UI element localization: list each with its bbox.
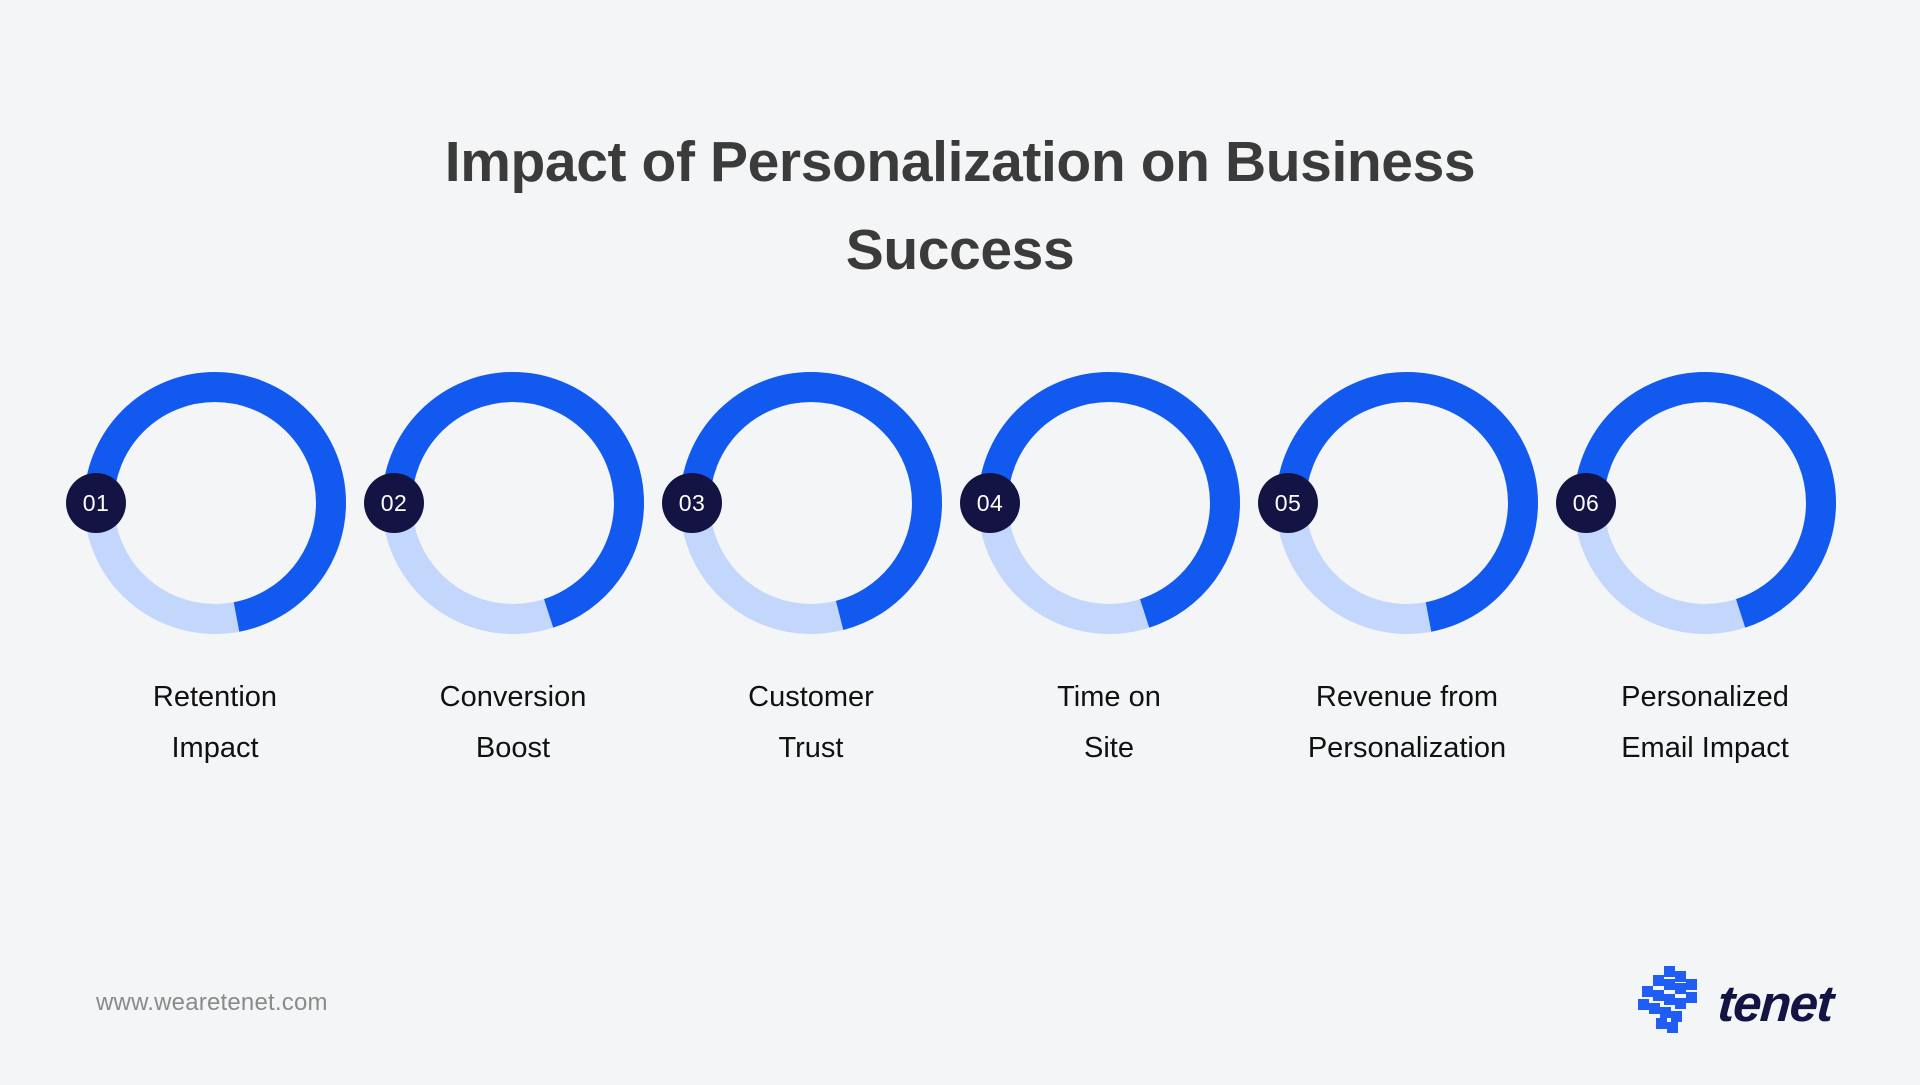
donut-number-badge: 03	[662, 473, 722, 533]
donut-cell: 03CustomerTrust	[662, 372, 960, 774]
donut-chart-row: 01RetentionImpact02ConversionBoost03Cust…	[66, 372, 1856, 774]
donut-cell: 01RetentionImpact	[66, 372, 364, 774]
donut-label-line-1: Retention	[75, 672, 355, 723]
page-title-container: Impact of Personalization on Business Su…	[0, 118, 1920, 294]
donut-chart[interactable]: 04	[978, 372, 1240, 634]
donut-chart[interactable]: 02	[382, 372, 644, 634]
donut-chart[interactable]: 06	[1574, 372, 1836, 634]
donut-number-badge: 05	[1258, 473, 1318, 533]
donut-label: Time onSite	[969, 672, 1249, 774]
donut-number-badge: 01	[66, 473, 126, 533]
donut-label-line-2: Impact	[75, 723, 355, 774]
donut-label-line-2: Site	[969, 723, 1249, 774]
donut-number-badge: 06	[1556, 473, 1616, 533]
donut-chart[interactable]: 05	[1276, 372, 1538, 634]
donut-label: Revenue fromPersonalization	[1267, 672, 1547, 774]
donut-chart[interactable]: 01	[84, 372, 346, 634]
donut-number-badge: 02	[364, 473, 424, 533]
donut-label-line-1: Customer	[671, 672, 951, 723]
donut-label-line-2: Email Impact	[1565, 723, 1845, 774]
donut-label: PersonalizedEmail Impact	[1565, 672, 1845, 774]
donut-label-line-1: Conversion	[373, 672, 653, 723]
infographic-canvas: Impact of Personalization on Business Su…	[0, 0, 1920, 1085]
donut-label-line-2: Trust	[671, 723, 951, 774]
donut-label: CustomerTrust	[671, 672, 951, 774]
tenet-logo-mark-icon	[1638, 966, 1704, 1041]
tenet-logo-wordmark: tenet	[1716, 978, 1834, 1029]
donut-label-line-2: Boost	[373, 723, 653, 774]
donut-label-line-1: Time on	[969, 672, 1249, 723]
donut-label-line-1: Revenue from	[1267, 672, 1547, 723]
donut-label: RetentionImpact	[75, 672, 355, 774]
donut-label-line-2: Personalization	[1267, 723, 1547, 774]
donut-number-badge: 04	[960, 473, 1020, 533]
donut-cell: 04Time onSite	[960, 372, 1258, 774]
donut-cell: 06PersonalizedEmail Impact	[1556, 372, 1854, 774]
page-title: Impact of Personalization on Business Su…	[350, 118, 1570, 294]
tenet-logo[interactable]: tenet	[1638, 966, 1832, 1041]
footer-website-url[interactable]: www.wearetenet.com	[96, 989, 328, 1017]
donut-cell: 05Revenue fromPersonalization	[1258, 372, 1556, 774]
donut-label: ConversionBoost	[373, 672, 653, 774]
donut-label-line-1: Personalized	[1565, 672, 1845, 723]
donut-cell: 02ConversionBoost	[364, 372, 662, 774]
donut-chart[interactable]: 03	[680, 372, 942, 634]
